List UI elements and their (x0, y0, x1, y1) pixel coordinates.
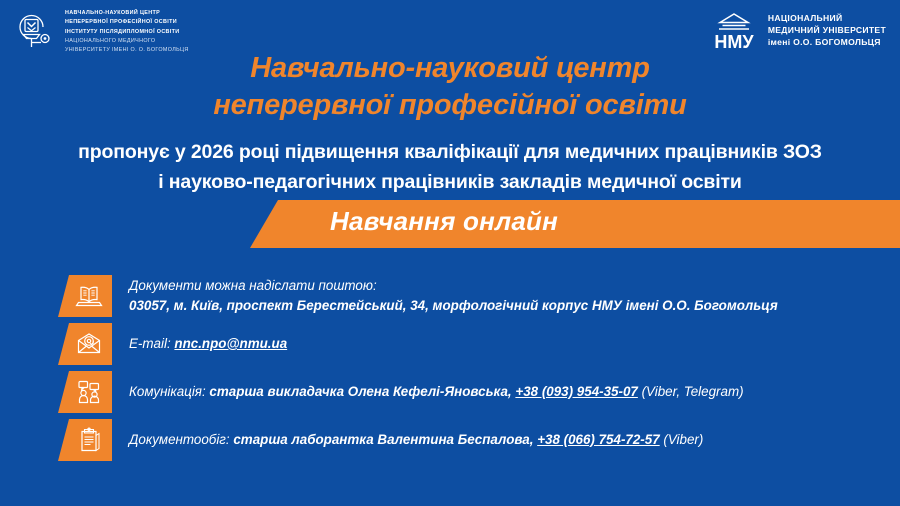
open-book-laptop-icon (58, 275, 112, 317)
page-subtitle: пропонує у 2026 році підвищення кваліфік… (0, 138, 900, 197)
nnc-logo-line-4: НАЦІОНАЛЬНОГО МЕДИЧНОГО (65, 37, 189, 46)
nmu-logo: НМУ НАЦІОНАЛЬНИЙ МЕДИЧНИЙ УНІВЕРСИТЕТ ім… (710, 8, 886, 52)
contact-text-postal: Документи можна надіслати поштою: 03057,… (129, 276, 778, 317)
contact-text-email: E-mail: nnc.npo@nmu.ua (129, 334, 287, 354)
email-link[interactable]: nnc.npo@nmu.ua (174, 336, 287, 351)
contact-label-communication: Комунікація: (129, 384, 206, 399)
nmu-logo-line-3: імені О.О. БОГОМОЛЬЦЯ (768, 36, 886, 48)
nmu-logo-line-1: НАЦІОНАЛЬНИЙ (768, 12, 886, 24)
contact-label-postal: Документи можна надіслати поштою: (129, 278, 377, 293)
contact-person-documents: старша лаборантка Валентина Беспалова, (233, 432, 533, 447)
contact-row-email: E-mail: nnc.npo@nmu.ua (58, 320, 878, 368)
svg-text:НМУ: НМУ (714, 32, 754, 52)
phone-link-communication[interactable]: +38 (093) 954-35-07 (515, 384, 637, 399)
contact-person-communication: старша викладачка Олена Кефелі-Яновська, (209, 384, 511, 399)
nmu-logo-line-2: МЕДИЧНИЙ УНІВЕРСИТЕТ (768, 24, 886, 36)
nnc-logo-line-3: ІНСТИТУТУ ПІСЛЯДИПЛОМНОЇ ОСВІТИ (65, 28, 189, 37)
page-title-line-1: Навчально-науковий центр (0, 50, 900, 87)
contact-row-postal: Документи можна надіслати поштою: 03057,… (58, 272, 878, 320)
messengers-communication: (Viber, Telegram) (642, 384, 744, 399)
nnc-logo: НАВЧАЛЬНО-НАУКОВИЙ ЦЕНТР НЕПЕРЕРВНОЇ ПРО… (14, 9, 189, 55)
nnc-logo-text: НАВЧАЛЬНО-НАУКОВИЙ ЦЕНТР НЕПЕРЕРВНОЇ ПРО… (65, 9, 189, 55)
nmu-building-monogram-logo: НМУ (710, 8, 758, 52)
page-subtitle-line-1: пропонує у 2026 році підвищення кваліфік… (0, 138, 900, 168)
nnc-book-monogram-logo (14, 10, 56, 54)
page-title-line-2: неперервної професійної освіти (0, 87, 900, 124)
contact-label-documents: Документообіг: (129, 432, 230, 447)
people-speech-bubbles-icon (58, 371, 112, 413)
nnc-logo-line-1: НАВЧАЛЬНО-НАУКОВИЙ ЦЕНТР (65, 9, 189, 18)
clipboard-document-icon (58, 419, 112, 461)
contact-value-address: 03057, м. Київ, проспект Берестейський, … (129, 296, 778, 316)
page-subtitle-line-2: і науково-педагогічних працівників закла… (0, 168, 900, 198)
contacts-list: Документи можна надіслати поштою: 03057,… (58, 272, 878, 464)
envelope-at-icon (58, 323, 112, 365)
contact-text-communication: Комунікація: старша викладачка Олена Кеф… (129, 382, 744, 402)
page-title: Навчально-науковий центр неперервної про… (0, 50, 900, 125)
phone-link-documents[interactable]: +38 (066) 754-72-57 (537, 432, 659, 447)
online-learning-banner-label: Навчання онлайн (330, 206, 558, 237)
nnc-logo-line-2: НЕПЕРЕРВНОЇ ПРОФЕСІЙНОЇ ОСВІТИ (65, 18, 189, 27)
messengers-documents: (Viber) (663, 432, 703, 447)
contact-row-documents: Документообіг: старша лаборантка Валенти… (58, 416, 878, 464)
contact-label-email: E-mail: (129, 336, 171, 351)
contact-row-communication: Комунікація: старша викладачка Олена Кеф… (58, 368, 878, 416)
nmu-logo-text: НАЦІОНАЛЬНИЙ МЕДИЧНИЙ УНІВЕРСИТЕТ імені … (768, 12, 886, 49)
contact-text-documents: Документообіг: старша лаборантка Валенти… (129, 430, 703, 450)
